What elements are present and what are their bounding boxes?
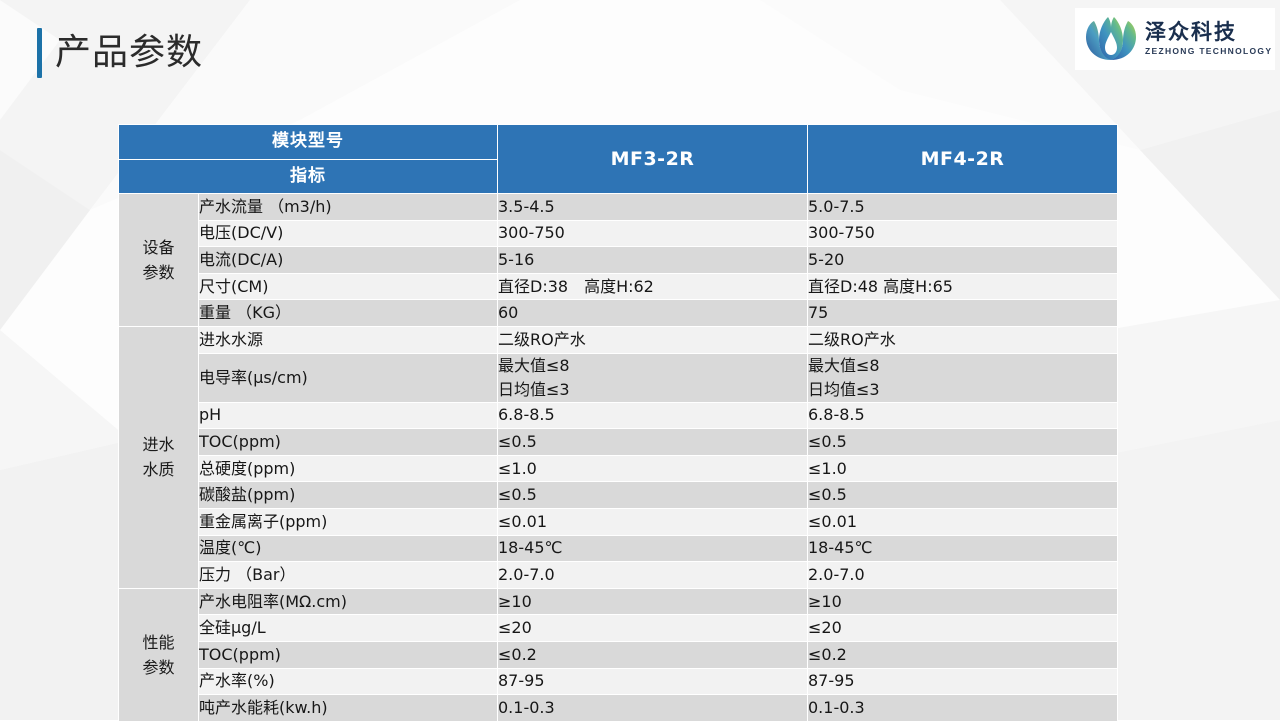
- table-row: 电流(DC/A)5-165-20: [119, 247, 1118, 274]
- row-group-label-3: 性能参数: [119, 588, 199, 721]
- spec-value-col1: ≥10: [498, 588, 808, 615]
- spec-value-line: 日均值≤3: [498, 378, 807, 402]
- spec-item-name: 压力 （Bar）: [199, 562, 498, 589]
- spec-value-col2: 5.0-7.5: [808, 194, 1118, 221]
- spec-value-col1: 二级RO产水: [498, 326, 808, 353]
- spec-value-line: 5-20: [808, 248, 1117, 272]
- spec-value-col2: ≤1.0: [808, 455, 1118, 482]
- spec-value-col2: 0.1-0.3: [808, 695, 1118, 722]
- spec-value-line: ≤1.0: [808, 457, 1117, 481]
- spec-value-line: ≤20: [498, 616, 807, 640]
- spec-value-col1: 300-750: [498, 220, 808, 247]
- spec-value-col2: ≤0.5: [808, 429, 1118, 456]
- spec-value-col1: 0.1-0.3: [498, 695, 808, 722]
- spec-table: 模块型号MF3-2RMF4-2R指标设备参数产水流量 （m3/h)3.5-4.5…: [118, 124, 1118, 722]
- spec-value-line: 18-45℃: [808, 536, 1117, 560]
- spec-value-line: 2.0-7.0: [808, 563, 1117, 587]
- spec-item-text: 温度(℃): [199, 538, 261, 557]
- spec-table-container: 模块型号MF3-2RMF4-2R指标设备参数产水流量 （m3/h)3.5-4.5…: [118, 124, 1118, 722]
- spec-item-text: 重量 （KG）: [199, 303, 291, 322]
- spec-item-text: 尺寸(CM): [199, 277, 268, 296]
- row-group-label-2: 进水水质: [119, 326, 199, 588]
- table-row: 碳酸盐(ppm)≤0.5≤0.5: [119, 482, 1118, 509]
- spec-value-col2: 二级RO产水: [808, 326, 1118, 353]
- table-row: 设备参数产水流量 （m3/h)3.5-4.55.0-7.5: [119, 194, 1118, 221]
- row-group-label-line: 水质: [119, 457, 198, 482]
- spec-value-line: ≤20: [808, 616, 1117, 640]
- spec-item-name: 尺寸(CM): [199, 273, 498, 300]
- spec-item-text: TOC(ppm): [199, 645, 281, 664]
- spec-value-col2: ≥10: [808, 588, 1118, 615]
- spec-value-line: ≤0.5: [498, 430, 807, 454]
- spec-value-line: ≤0.2: [498, 643, 807, 667]
- spec-item-text: TOC(ppm): [199, 432, 281, 451]
- spec-value-col2: 最大值≤8日均值≤3: [808, 353, 1118, 402]
- spec-value-line: ≤0.01: [498, 510, 807, 534]
- title-accent-bar: [37, 28, 42, 78]
- spec-item-name: 全硅μg/L: [199, 615, 498, 642]
- spec-value-col1: 18-45℃: [498, 535, 808, 562]
- spec-item-name: 温度(℃): [199, 535, 498, 562]
- spec-value-line: 最大值≤8: [498, 354, 807, 378]
- spec-value-line: 直径D:48 高度H:65: [808, 275, 1117, 299]
- spec-value-line: 5-16: [498, 248, 807, 272]
- row-group-label-line: 性能: [119, 630, 198, 655]
- table-row: 重量 （KG）6075: [119, 300, 1118, 327]
- spec-item-text: 产水电阻率(MΩ.cm): [199, 592, 347, 611]
- lotus-waterdrop-icon: [1083, 14, 1139, 64]
- page-title: 产品参数: [55, 28, 203, 78]
- table-row: 尺寸(CM)直径D:38 高度H:62直径D:48 高度H:65: [119, 273, 1118, 300]
- table-row: 电导率(μs/cm)最大值≤8日均值≤3最大值≤8日均值≤3: [119, 353, 1118, 402]
- spec-value-col1: ≤0.5: [498, 482, 808, 509]
- spec-item-name: 电导率(μs/cm): [199, 353, 498, 402]
- spec-value-line: ≤0.01: [808, 510, 1117, 534]
- table-row: pH6.8-8.56.8-8.5: [119, 402, 1118, 429]
- table-row: 压力 （Bar）2.0-7.02.0-7.0: [119, 562, 1118, 589]
- spec-value-col1: ≤0.2: [498, 641, 808, 668]
- spec-item-name: 碳酸盐(ppm): [199, 482, 498, 509]
- spec-item-name: 产水率(%): [199, 668, 498, 695]
- spec-value-line: ≥10: [808, 590, 1117, 614]
- spec-item-text: 吨产水能耗(kw.h): [199, 698, 328, 717]
- spec-value-col2: 2.0-7.0: [808, 562, 1118, 589]
- spec-value-line: 5.0-7.5: [808, 195, 1117, 219]
- spec-value-line: 60: [498, 301, 807, 325]
- row-group-label-line: 设备: [119, 235, 198, 260]
- spec-value-col1: ≤1.0: [498, 455, 808, 482]
- spec-item-name: 产水电阻率(MΩ.cm): [199, 588, 498, 615]
- table-row: 电压(DC/V)300-750300-750: [119, 220, 1118, 247]
- table-row: TOC(ppm)≤0.5≤0.5: [119, 429, 1118, 456]
- spec-item-name: pH: [199, 402, 498, 429]
- spec-item-text: 进水水源: [199, 330, 263, 349]
- spec-item-text: 全硅μg/L: [199, 618, 266, 637]
- spec-value-col2: ≤0.2: [808, 641, 1118, 668]
- spec-item-name: 进水水源: [199, 326, 498, 353]
- spec-value-line: 二级RO产水: [808, 328, 1117, 352]
- table-row: 产水率(%)87-9587-95: [119, 668, 1118, 695]
- spec-item-name: 吨产水能耗(kw.h): [199, 695, 498, 722]
- spec-value-col2: ≤0.5: [808, 482, 1118, 509]
- spec-value-line: ≤0.5: [808, 483, 1117, 507]
- spec-item-text: 产水流量 （m3/h): [199, 197, 332, 216]
- spec-value-line: 直径D:38 高度H:62: [498, 275, 807, 299]
- spec-value-col1: ≤0.5: [498, 429, 808, 456]
- spec-item-name: 总硬度(ppm): [199, 455, 498, 482]
- spec-value-line: 6.8-8.5: [498, 403, 807, 427]
- spec-value-col2: 75: [808, 300, 1118, 327]
- spec-item-name: 重量 （KG）: [199, 300, 498, 327]
- spec-value-col2: ≤20: [808, 615, 1118, 642]
- spec-value-col1: 2.0-7.0: [498, 562, 808, 589]
- spec-item-name: TOC(ppm): [199, 429, 498, 456]
- table-row: 进水水质进水水源二级RO产水二级RO产水: [119, 326, 1118, 353]
- row-group-label-line: 参数: [119, 655, 198, 680]
- spec-value-line: 300-750: [498, 221, 807, 245]
- spec-value-col1: 直径D:38 高度H:62: [498, 273, 808, 300]
- table-row: 总硬度(ppm)≤1.0≤1.0: [119, 455, 1118, 482]
- spec-value-line: 0.1-0.3: [498, 696, 807, 720]
- spec-value-col1: ≤20: [498, 615, 808, 642]
- row-group-label-1: 设备参数: [119, 194, 199, 327]
- header-column-1: MF3-2R: [498, 125, 808, 194]
- spec-item-name: TOC(ppm): [199, 641, 498, 668]
- spec-value-line: 6.8-8.5: [808, 403, 1117, 427]
- spec-item-text: 电流(DC/A): [199, 250, 283, 269]
- spec-value-col2: ≤0.01: [808, 508, 1118, 535]
- logo-company-name-cn: 泽众科技: [1145, 21, 1272, 43]
- spec-value-line: 18-45℃: [498, 536, 807, 560]
- spec-value-line: ≤0.2: [808, 643, 1117, 667]
- spec-value-line: ≤1.0: [498, 457, 807, 481]
- spec-value-line: 2.0-7.0: [498, 563, 807, 587]
- spec-value-line: 300-750: [808, 221, 1117, 245]
- spec-item-text: 碳酸盐(ppm): [199, 485, 295, 504]
- spec-value-line: 75: [808, 301, 1117, 325]
- spec-item-text: 压力 （Bar）: [199, 565, 295, 584]
- spec-value-col1: 87-95: [498, 668, 808, 695]
- header-model-label: 模块型号: [119, 125, 498, 160]
- spec-value-line: 3.5-4.5: [498, 195, 807, 219]
- spec-item-name: 重金属离子(ppm): [199, 508, 498, 535]
- spec-item-name: 产水流量 （m3/h): [199, 194, 498, 221]
- spec-value-line: 最大值≤8: [808, 354, 1117, 378]
- spec-item-text: 电压(DC/V): [199, 223, 283, 242]
- spec-value-col2: 6.8-8.5: [808, 402, 1118, 429]
- spec-item-name: 电流(DC/A): [199, 247, 498, 274]
- spec-value-line: ≤0.5: [808, 430, 1117, 454]
- spec-value-line: ≤0.5: [498, 483, 807, 507]
- logo-company-name-en: ZEZHONG TECHNOLOGY: [1145, 45, 1272, 57]
- page-header: 产品参数 泽众科技 Z: [0, 0, 1280, 104]
- spec-value-col1: 最大值≤8日均值≤3: [498, 353, 808, 402]
- spec-item-text: 产水率(%): [199, 671, 275, 690]
- table-row: 性能参数产水电阻率(MΩ.cm)≥10≥10: [119, 588, 1118, 615]
- spec-value-col2: 5-20: [808, 247, 1118, 274]
- spec-value-col2: 直径D:48 高度H:65: [808, 273, 1118, 300]
- spec-value-line: 87-95: [498, 669, 807, 693]
- spec-value-col1: 6.8-8.5: [498, 402, 808, 429]
- spec-value-col2: 300-750: [808, 220, 1118, 247]
- table-row: 吨产水能耗(kw.h)0.1-0.30.1-0.3: [119, 695, 1118, 722]
- spec-item-text: 电导率(μs/cm): [199, 368, 308, 387]
- spec-value-line: 日均值≤3: [808, 378, 1117, 402]
- table-header-row-model: 模块型号MF3-2RMF4-2R: [119, 125, 1118, 160]
- spec-value-col2: 87-95: [808, 668, 1118, 695]
- company-logo: 泽众科技 ZEZHONG TECHNOLOGY: [1075, 8, 1275, 70]
- row-group-label-line: 参数: [119, 260, 198, 285]
- table-row: 全硅μg/L≤20≤20: [119, 615, 1118, 642]
- table-row: 温度(℃)18-45℃18-45℃: [119, 535, 1118, 562]
- table-row: TOC(ppm)≤0.2≤0.2: [119, 641, 1118, 668]
- header-index-label: 指标: [119, 159, 498, 194]
- header-column-2: MF4-2R: [808, 125, 1118, 194]
- spec-value-col1: 5-16: [498, 247, 808, 274]
- spec-item-text: 总硬度(ppm): [199, 459, 295, 478]
- row-group-label-line: 进水: [119, 432, 198, 457]
- spec-value-line: 二级RO产水: [498, 328, 807, 352]
- table-row: 重金属离子(ppm)≤0.01≤0.01: [119, 508, 1118, 535]
- spec-value-col1: 60: [498, 300, 808, 327]
- spec-value-col2: 18-45℃: [808, 535, 1118, 562]
- spec-value-col1: 3.5-4.5: [498, 194, 808, 221]
- spec-value-line: 87-95: [808, 669, 1117, 693]
- page-title-group: 产品参数: [37, 26, 203, 80]
- spec-value-line: ≥10: [498, 590, 807, 614]
- spec-item-name: 电压(DC/V): [199, 220, 498, 247]
- spec-value-line: 0.1-0.3: [808, 696, 1117, 720]
- spec-item-text: 重金属离子(ppm): [199, 512, 327, 531]
- spec-item-text: pH: [199, 405, 221, 424]
- spec-value-col1: ≤0.01: [498, 508, 808, 535]
